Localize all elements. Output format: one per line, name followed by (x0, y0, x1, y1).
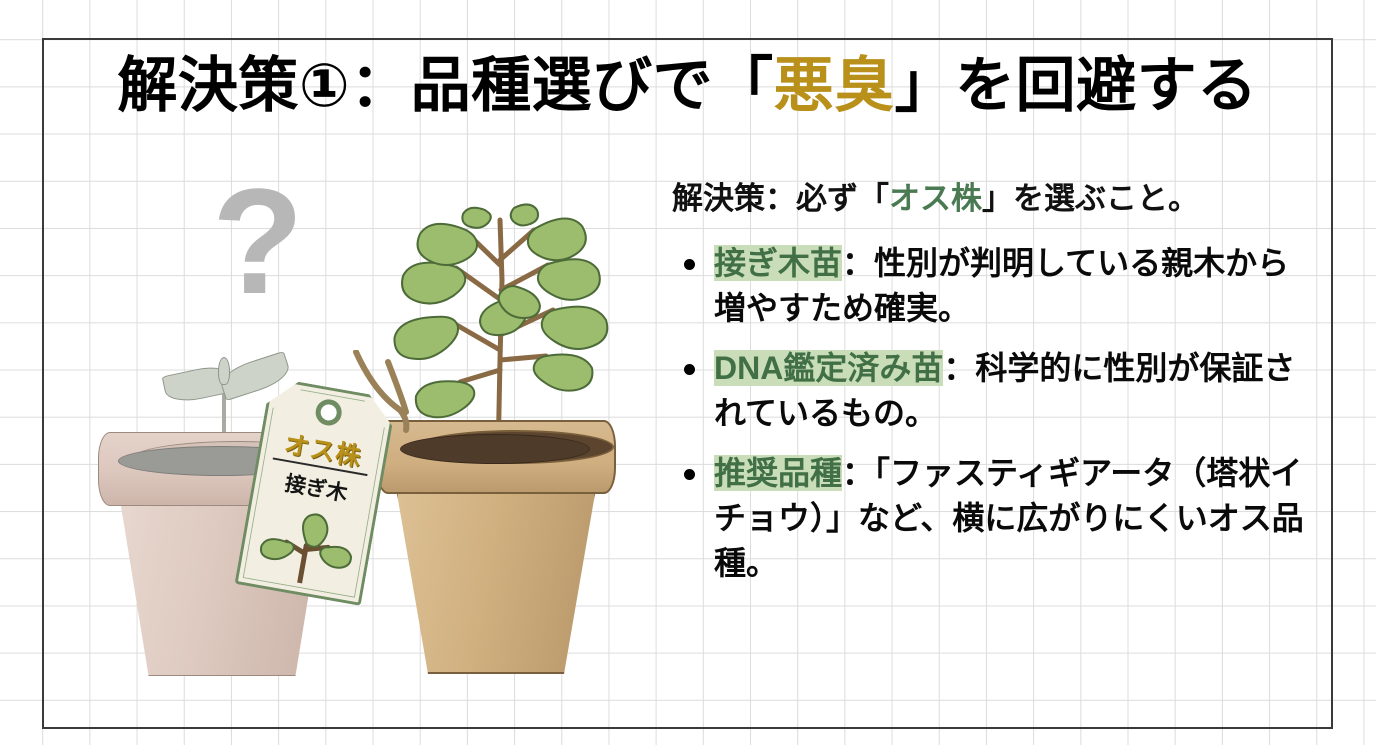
bullet-term: DNA鑑定済み苗 (714, 350, 943, 386)
bullet-term: 推奨品種 (714, 455, 842, 491)
bullet-list: 接ぎ木苗：性別が判明している親木から増やすため確実。 DNA鑑定済み苗：科学的に… (672, 241, 1320, 587)
slide-canvas: 解決策①：品種選びで「悪臭」を回避する ? (0, 0, 1376, 745)
illustration-area: ? (60, 160, 660, 720)
title-highlight-akushu: 悪臭 (774, 52, 895, 119)
bullet-separator: ： (943, 350, 975, 386)
list-item: 接ぎ木苗：性別が判明している親木から増やすため確実。 (672, 241, 1320, 332)
list-item: DNA鑑定済み苗：科学的に性別が保証されているもの。 (672, 346, 1320, 437)
lead-highlight-osukabu: オス株 (889, 181, 982, 216)
lead-prefix: 解決策：必ず「 (672, 181, 889, 216)
seedling-bud (218, 357, 230, 385)
content-column: 解決策：必ず「オス株」を選ぶこと。 接ぎ木苗：性別が判明している親木から増やすた… (672, 180, 1320, 601)
bullet-separator: ： (842, 455, 874, 491)
question-mark-icon: ? (212, 166, 304, 316)
list-item: 推奨品種：「ファスティギアータ（塔状イチョウ）」など、横に広がりにくいオス品種。 (672, 451, 1320, 587)
page-title: 解決策①：品種選びで「悪臭」を回避する (42, 56, 1333, 116)
pot-right-body (396, 488, 596, 674)
title-segment-2: 」を回避する (895, 52, 1258, 119)
bullet-term: 接ぎ木苗 (714, 245, 842, 281)
lead-statement: 解決策：必ず「オス株」を選ぶこと。 (672, 180, 1320, 219)
bullet-separator: ： (842, 245, 874, 281)
title-segment-1: 解決策①：品種選びで「 (117, 52, 773, 119)
lead-suffix: 」を選ぶこと。 (982, 181, 1199, 216)
